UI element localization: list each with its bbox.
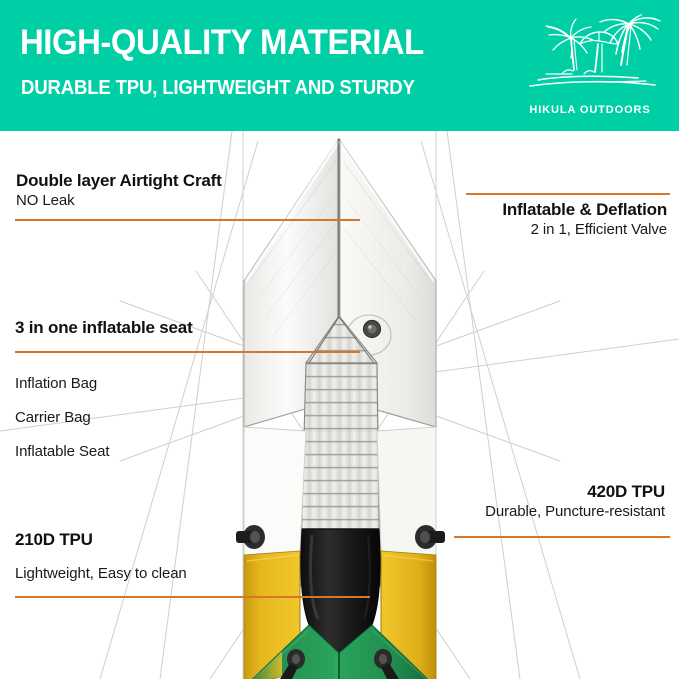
callout-airtight-craft: Double layer Airtight Craft NO Leak (16, 170, 222, 211)
brand-name: HIKULA OUTDOORS (510, 104, 670, 116)
leader-line-airtight (15, 219, 360, 221)
callout-seat-item-0: Inflation Bag (15, 376, 193, 391)
callout-valve-subtitle: 2 in 1, Efficient Valve (502, 220, 667, 240)
callout-210d-subtitle: Lightweight, Easy to clean (15, 564, 187, 584)
header-banner: HIGH-QUALITY MATERIAL DURABLE TPU, LIGHT… (0, 0, 679, 131)
callout-420d-subtitle: Durable, Puncture-resistant (485, 502, 665, 522)
callout-inflatable-seat: 3 in one inflatable seat Inflation Bag C… (15, 317, 193, 478)
callout-420d-title: 420D TPU (485, 481, 665, 502)
callout-seat-item-2: Inflatable Seat (15, 444, 193, 459)
page-subtitle: DURABLE TPU, LIGHTWEIGHT AND STURDY (21, 78, 415, 98)
callout-seat-title: 3 in one inflatable seat (15, 317, 193, 338)
callout-airtight-subtitle: NO Leak (16, 191, 222, 211)
page-title: HIGH-QUALITY MATERIAL (20, 25, 424, 60)
callout-airtight-title: Double layer Airtight Craft (16, 170, 222, 191)
hull-fitting-left-upper (236, 525, 265, 549)
callout-210d-tpu: 210D TPU Lightweight, Easy to clean (15, 529, 187, 584)
infographic-root: HIGH-QUALITY MATERIAL DURABLE TPU, LIGHT… (0, 0, 679, 679)
leader-line-valve (466, 193, 670, 195)
hull-fitting-right-upper (415, 525, 445, 549)
product-stage: Double layer Airtight Craft NO Leak Infl… (0, 131, 679, 679)
callout-valve: Inflatable & Deflation 2 in 1, Efficient… (502, 199, 667, 240)
leader-line-seat (15, 351, 360, 353)
callout-420d-tpu: 420D TPU Durable, Puncture-resistant (485, 481, 665, 522)
palm-tree-island-icon (510, 8, 670, 108)
callout-210d-title: 210D TPU (15, 529, 187, 550)
callout-valve-title: Inflatable & Deflation (502, 199, 667, 220)
leader-line-210d (15, 596, 370, 598)
callout-seat-item-1: Carrier Bag (15, 410, 193, 425)
leader-line-420d (454, 536, 670, 538)
brand-logo: HIKULA OUTDOORS (510, 8, 670, 126)
